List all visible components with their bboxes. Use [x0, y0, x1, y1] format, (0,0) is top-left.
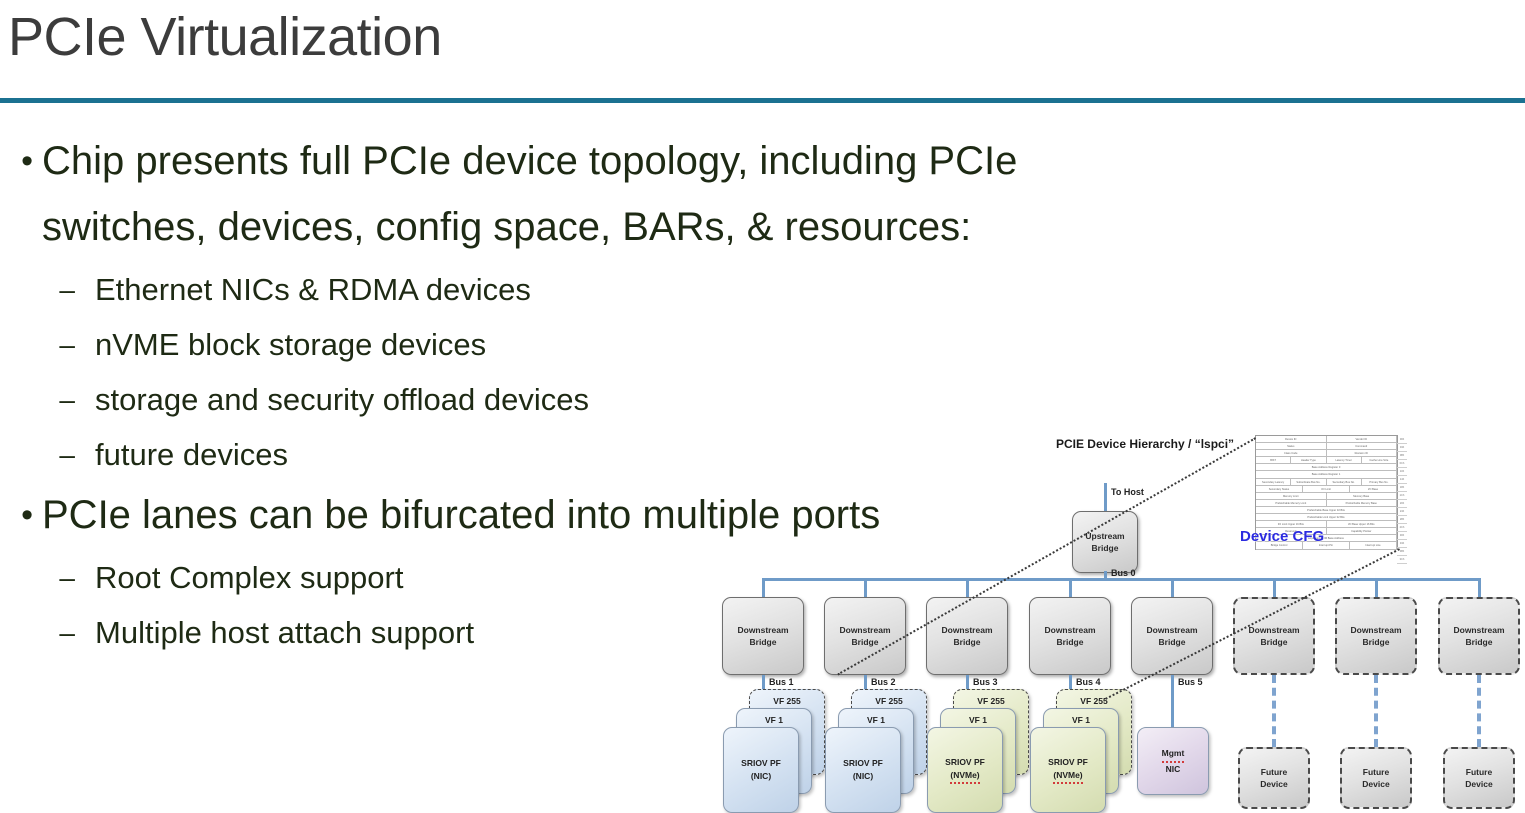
bullet-text: Chip presents full PCIe device topology,… [42, 128, 1192, 260]
config-offset-8: 20h [1397, 500, 1407, 508]
bridge-line1: Downstream [1146, 624, 1197, 636]
future-line1: Future [1466, 766, 1492, 778]
config-cell: Revision ID [1327, 450, 1398, 456]
bridge-line1: Downstream [1350, 624, 1401, 636]
bus0-drop-8 [1478, 578, 1481, 597]
title-divider [0, 98, 1525, 103]
bullet-marker: – [0, 317, 95, 372]
config-row-0: Device IDVendor ID [1256, 436, 1397, 443]
mgmt-line1: Mgmt [1162, 747, 1185, 763]
config-cell: Prefetchable Limit Upper 32 Bits [1256, 514, 1397, 520]
downstream-bridge-node-1: DownstreamBridge [722, 597, 804, 675]
config-cell: Device ID [1256, 436, 1327, 442]
bullet-text: storage and security offload devices [95, 372, 589, 427]
future-device-node-3: FutureDevice [1443, 747, 1515, 809]
bullet-item-2: –nVME block storage devices [0, 317, 1250, 372]
config-offset-0: 00h [1397, 436, 1407, 444]
upstream-bridge-node: Upstream Bridge [1072, 511, 1138, 573]
bullet-marker: – [0, 550, 95, 605]
bridge-line1: Downstream [1248, 624, 1299, 636]
config-offset-9: 24h [1397, 508, 1407, 516]
pf-line2: (NIC) [751, 770, 771, 783]
future-line2: Device [1260, 778, 1287, 790]
config-offset-11: 2Ch [1397, 524, 1407, 532]
config-row-11: Prefetchable Limit Upper 32 Bits [1256, 514, 1397, 521]
config-offset-1: 04h [1397, 444, 1407, 452]
config-cell: Vendor ID [1327, 436, 1398, 442]
to-host-label: To Host [1111, 487, 1144, 497]
device-stack-4: VF 255VF 1SRIOV PF(NVMe) [1030, 689, 1134, 807]
config-offset-4: 10h [1397, 468, 1407, 476]
bridge-line1: Downstream [941, 624, 992, 636]
config-offset-2: 08h [1397, 452, 1407, 460]
vf-max-label: VF 255 [773, 695, 800, 708]
future-link-8 [1477, 675, 1481, 747]
page-title: PCIe Virtualization [8, 6, 442, 68]
config-row-1: StatusCommand [1256, 443, 1397, 450]
device-stack-3: VF 255VF 1SRIOV PF(NVMe) [927, 689, 1031, 807]
bullet-marker: – [0, 262, 95, 317]
vf-max-label: VF 255 [1080, 695, 1107, 708]
future-device-node-1: FutureDevice [1238, 747, 1310, 809]
bullet-marker: – [0, 372, 95, 427]
future-line1: Future [1261, 766, 1287, 778]
pf-line2: (NVMe) [950, 769, 979, 785]
device-stack-1: VF 255VF 1SRIOV PF(NIC) [723, 689, 827, 807]
bus0-drop-1 [762, 578, 765, 597]
bullet-text: Ethernet NICs & RDMA devices [95, 262, 531, 317]
bullet-item-3: –storage and security offload devices [0, 372, 1250, 427]
bridge-line2: Bridge [750, 636, 777, 648]
diagram-title: PCIE Device Hierarchy / “lspci” [1030, 437, 1260, 451]
config-cell: Base Address Register 1 [1256, 471, 1397, 477]
pcie-device-hierarchy-diagram: PCIE Device Hierarchy / “lspci” To Host … [700, 425, 1525, 809]
config-offset-3: 0Ch [1397, 460, 1407, 468]
config-cell: Secondary Status [1256, 486, 1303, 492]
future-line2: Device [1362, 778, 1389, 790]
bus0-backbone [763, 578, 1481, 581]
downstream-bridge-node-3: DownstreamBridge [926, 597, 1008, 675]
bridge-line2: Bridge [1159, 636, 1186, 648]
config-row-8: Memory LimitMemory Base [1256, 493, 1397, 500]
bullet-marker: – [0, 427, 95, 482]
bus0-drop-3 [966, 578, 969, 597]
bridge-line2: Bridge [1057, 636, 1084, 648]
config-cell: Command [1327, 443, 1398, 449]
bridge-line1: Downstream [1453, 624, 1504, 636]
future-line1: Future [1363, 766, 1389, 778]
future-link-7 [1374, 675, 1378, 747]
pf-line1: SRIOV PF [1048, 756, 1088, 769]
mgmt-line2: NIC [1166, 763, 1181, 776]
vf-1-label: VF 1 [765, 714, 783, 727]
mgmt-nic-card: MgmtNIC [1137, 727, 1209, 795]
config-offset-5: 14h [1397, 476, 1407, 484]
config-cell: Prefetchable Memory Base [1327, 500, 1398, 506]
config-row-10: Prefetchable Base Upper 32 Bits [1256, 507, 1397, 514]
config-cell: Secondary Bus No. [1327, 479, 1362, 485]
config-offset-6: 18h [1397, 484, 1407, 492]
config-row-6: Secondary LatencySubordinate Bus No.Seco… [1256, 479, 1397, 486]
config-offset-12: 30h [1397, 532, 1407, 540]
vf-max-label: VF 255 [875, 695, 902, 708]
vf-max-label: VF 255 [977, 695, 1004, 708]
config-cell: Subordinate Bus No. [1291, 479, 1326, 485]
bullet-text: nVME block storage devices [95, 317, 486, 372]
bullet-item-0: •Chip presents full PCIe device topology… [0, 128, 1250, 260]
downstream-bridge-node-6: DownstreamBridge [1233, 597, 1315, 675]
bus0-drop-5 [1171, 578, 1174, 597]
bridge-line2: Bridge [1261, 636, 1288, 648]
downstream-bridge-node-2: DownstreamBridge [824, 597, 906, 675]
config-cell: BIST [1256, 457, 1291, 463]
pf-line2: (NIC) [853, 770, 873, 783]
bridge-line1: Downstream [737, 624, 788, 636]
bridge-line2: Bridge [1363, 636, 1390, 648]
pf-line1: SRIOV PF [741, 757, 781, 770]
bullet-marker: • [0, 128, 42, 194]
config-row-4: Base Address Register 0 [1256, 464, 1397, 471]
bullet-marker: – [0, 605, 95, 660]
config-cell: I/O Base [1350, 486, 1397, 492]
bus0-label: Bus 0 [1111, 568, 1136, 578]
bridge-line2: Bridge [954, 636, 981, 648]
config-row-7: Secondary StatusI/O LimitI/O Base [1256, 486, 1397, 493]
upstream-bridge-line2: Bridge [1092, 542, 1119, 554]
vf-1-label: VF 1 [969, 714, 987, 727]
bridge-line1: Downstream [1044, 624, 1095, 636]
pf-line2: (NVMe) [1053, 769, 1082, 785]
bus-label-4: Bus 4 [1076, 677, 1101, 687]
bus0-drop-2 [864, 578, 867, 597]
config-row-5: Base Address Register 1 [1256, 471, 1397, 478]
config-cell: I/O Limit [1303, 486, 1350, 492]
config-offset-13: 34h [1397, 540, 1407, 548]
config-cell: Cache Line Size [1362, 457, 1397, 463]
config-cell: Memory Base [1327, 493, 1398, 499]
bullet-text: Multiple host attach support [95, 605, 474, 660]
pf-line1: SRIOV PF [945, 756, 985, 769]
config-cell: Latency Timer [1327, 457, 1362, 463]
config-cell: Class Code [1256, 450, 1327, 456]
config-offset-10: 28h [1397, 516, 1407, 524]
config-cell: Status [1256, 443, 1327, 449]
config-offset-15: 3Ch [1397, 556, 1407, 564]
config-row-9: Prefetchable Memory LimitPrefetchable Me… [1256, 500, 1397, 507]
device-cfg-label: Device CFG [1240, 528, 1324, 545]
config-cell: Prefetchable Base Upper 32 Bits [1256, 507, 1397, 513]
bus-label-2: Bus 2 [871, 677, 896, 687]
bullet-item-1: –Ethernet NICs & RDMA devices [0, 262, 1250, 317]
bullet-marker: • [0, 482, 42, 548]
config-row-2: Class CodeRevision ID [1256, 450, 1397, 457]
bridge-line1: Downstream [839, 624, 890, 636]
physical-function-card: SRIOV PF(NVMe) [1030, 727, 1106, 813]
bus-label-3: Bus 3 [973, 677, 998, 687]
vf-1-label: VF 1 [867, 714, 885, 727]
config-cell: Memory Limit [1256, 493, 1327, 499]
device-stack-2: VF 255VF 1SRIOV PF(NIC) [825, 689, 929, 807]
bridge-line2: Bridge [1466, 636, 1493, 648]
bullet-text: future devices [95, 427, 288, 482]
config-cell: I/O Base Upper 16 Bits [1327, 521, 1398, 527]
physical-function-card: SRIOV PF(NVMe) [927, 727, 1003, 813]
future-link-6 [1272, 675, 1276, 747]
downstream-bridge-node-4: DownstreamBridge [1029, 597, 1111, 675]
config-cell: Base Address Register 0 [1256, 464, 1397, 470]
physical-function-card: SRIOV PF(NIC) [723, 727, 799, 813]
future-device-node-2: FutureDevice [1340, 747, 1412, 809]
config-cell: Primary Bus No. [1362, 479, 1397, 485]
config-cell: I/O Limit Upper 16 Bits [1256, 521, 1327, 527]
config-row-3: BISTHeader TypeLatency TimerCache Line S… [1256, 457, 1397, 464]
config-cell: Prefetchable Memory Limit [1256, 500, 1327, 506]
bus0-drop-4 [1069, 578, 1072, 597]
bus0-drop-6 [1273, 578, 1276, 597]
downstream-bridge-node-8: DownstreamBridge [1438, 597, 1520, 675]
bridge-line2: Bridge [852, 636, 879, 648]
bus0-drop-7 [1375, 578, 1378, 597]
physical-function-card: SRIOV PF(NIC) [825, 727, 901, 813]
config-offset-7: 1Ch [1397, 492, 1407, 500]
vf-1-label: VF 1 [1072, 714, 1090, 727]
future-line2: Device [1465, 778, 1492, 790]
pf-line1: SRIOV PF [843, 757, 883, 770]
config-cell: Header Type [1291, 457, 1326, 463]
bus-label-5: Bus 5 [1178, 677, 1203, 687]
bus-label-1: Bus 1 [769, 677, 794, 687]
config-table-offsets: 00h04h08h0Ch10h14h18h1Ch20h24h28h2Ch30h3… [1397, 436, 1407, 551]
bullet-text: Root Complex support [95, 550, 403, 605]
config-cell: Secondary Latency [1256, 479, 1291, 485]
config-cell: Capability Pointer [1327, 528, 1398, 534]
config-cell: Interrupt Line [1350, 542, 1397, 548]
downstream-bridge-node-7: DownstreamBridge [1335, 597, 1417, 675]
